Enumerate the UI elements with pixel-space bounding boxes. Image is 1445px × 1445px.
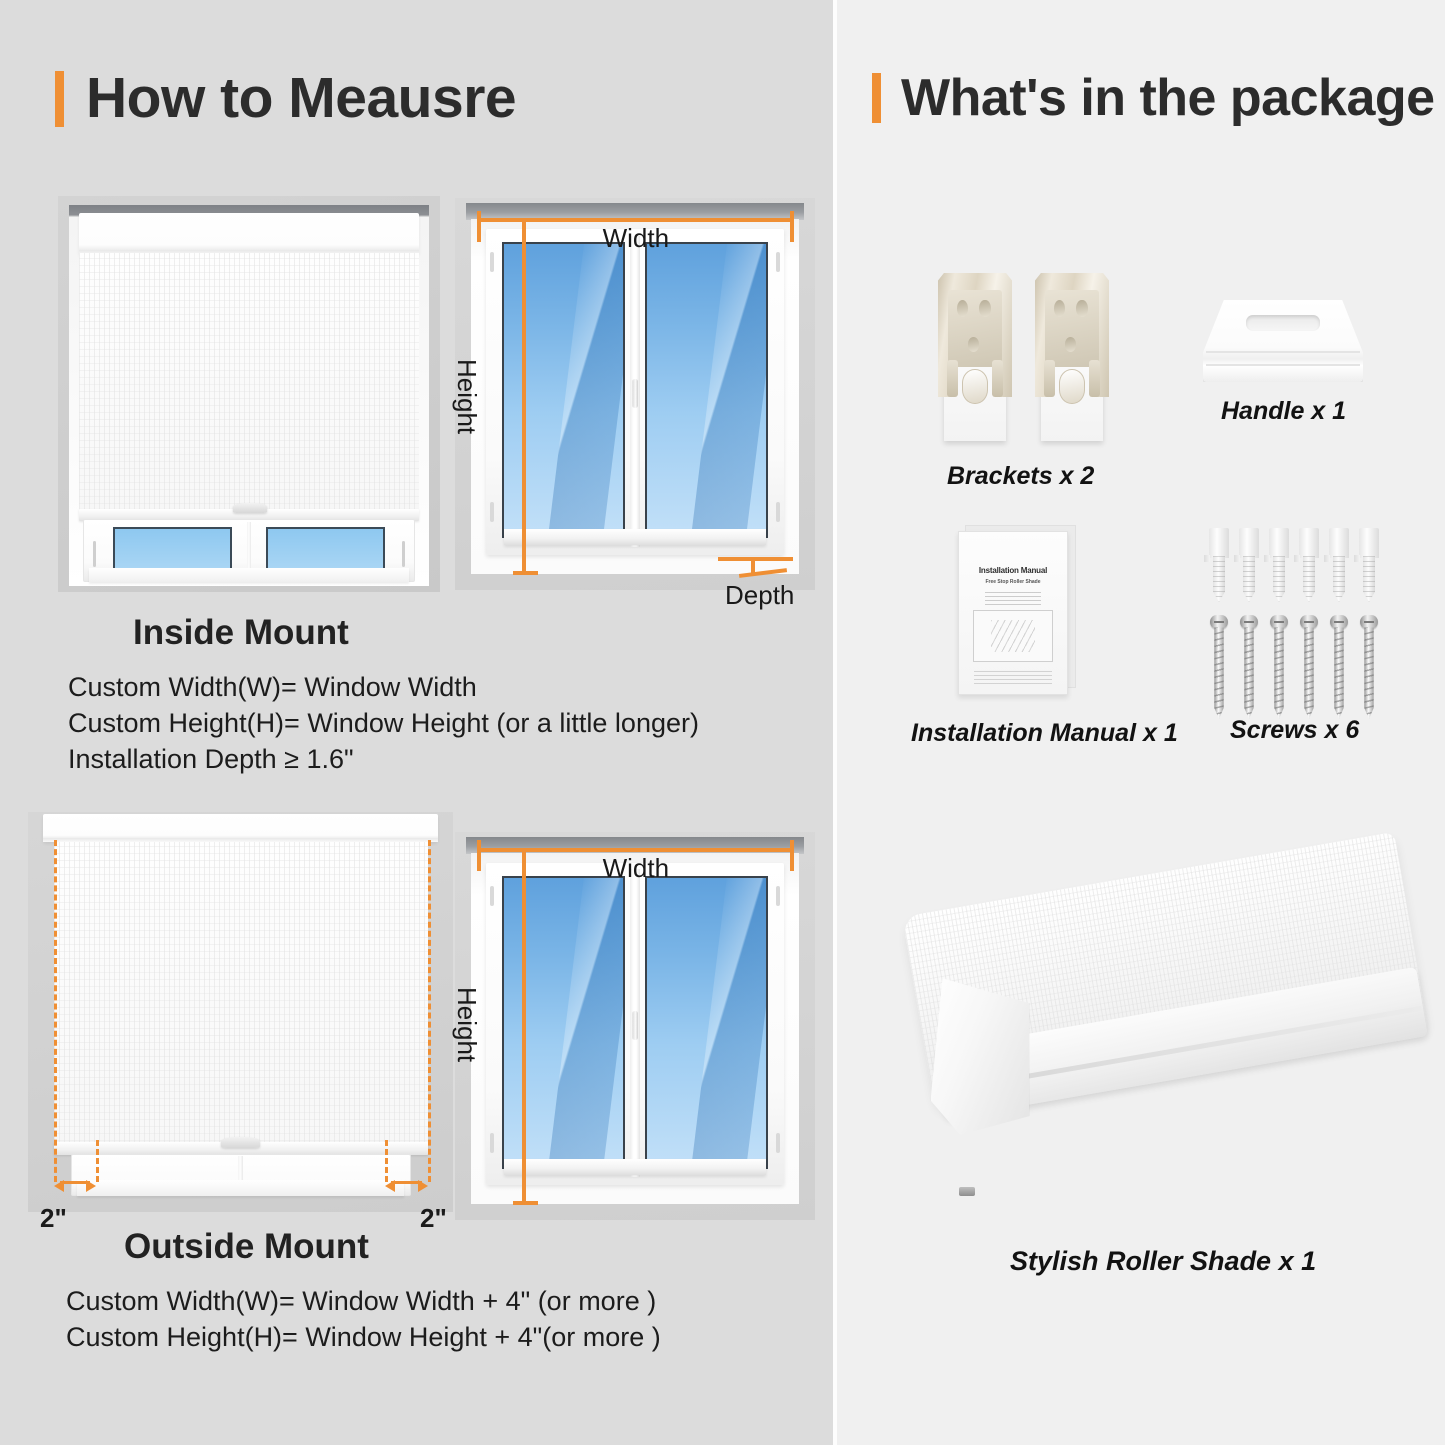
- anchor-wing: [1294, 555, 1300, 562]
- hinge-top-left: [490, 252, 494, 272]
- anchor-head: [1329, 528, 1349, 558]
- manual-cover: Installation Manual Free Stop Roller Sha…: [958, 531, 1068, 695]
- handle-ridge-2: [1206, 364, 1360, 366]
- roller-shade-icon: [915, 895, 1435, 1215]
- manual-cover-subtitle: Free Stop Roller Shade: [968, 579, 1059, 585]
- roller-shade-end-cap: [931, 978, 1030, 1135]
- wall-anchor-icon: [1299, 528, 1319, 602]
- outside-mount-title: Outside Mount: [124, 1227, 369, 1267]
- window-handles: [630, 379, 640, 408]
- window-sill: [504, 529, 767, 545]
- sash-handle-left: [93, 541, 96, 567]
- bracket-slot-left: [947, 360, 958, 397]
- hinge-bottom-right: [776, 502, 780, 522]
- inside-mount-title: Inside Mount: [133, 613, 349, 653]
- anchor-body: [1363, 556, 1376, 602]
- window-handles: [630, 1011, 640, 1040]
- screw-head: [1240, 615, 1258, 629]
- anchor-wing: [1234, 555, 1240, 562]
- anchor-wing: [1324, 555, 1330, 562]
- roller-shade-label: Stylish Roller Shade x 1: [1010, 1246, 1316, 1277]
- width-guide-cap-left: [477, 211, 481, 242]
- depth-label: Depth: [725, 580, 794, 611]
- bracket-hole-right: [1076, 300, 1087, 317]
- glass-pane-right: [645, 876, 768, 1169]
- width-guide-cap-right: [790, 211, 794, 242]
- anchor-head: [1269, 528, 1289, 558]
- screw-head: [1330, 615, 1348, 629]
- handle-icon: [1203, 300, 1363, 382]
- inside-mount-measure-diagram: Width Height Depth: [455, 198, 815, 590]
- wall-anchor-icon: [1209, 528, 1229, 602]
- anchor-body: [1273, 556, 1286, 602]
- handle-grip-slot: [1246, 315, 1320, 331]
- height-label: Height: [451, 359, 482, 434]
- anchor-head: [1209, 528, 1229, 558]
- bracket-inner-plate: [948, 290, 1001, 367]
- screw-icon: [1240, 615, 1258, 719]
- manual-cover-footer-text: [974, 670, 1052, 685]
- roller-shade-end-pin: [959, 1187, 975, 1196]
- how-to-measure-heading: How to Meausre: [55, 70, 516, 127]
- height-guide-cap-bottom: [513, 571, 538, 575]
- how-to-measure-title: How to Meausre: [86, 70, 516, 127]
- width-guide-cap-right: [790, 840, 794, 871]
- anchor-head: [1299, 528, 1319, 558]
- height-guide-cap-top: [513, 218, 538, 222]
- bracket-slot-right: [992, 360, 1003, 397]
- infographic-page: How to Meausre: [0, 0, 1445, 1445]
- anchor-head: [1239, 528, 1259, 558]
- screw-shaft: [1214, 627, 1223, 719]
- bracket-icon: [938, 273, 1012, 441]
- screw-icon: [1330, 615, 1348, 719]
- overhang-label-right: 2": [420, 1203, 447, 1234]
- overhang-guide-left: [54, 840, 57, 1182]
- overhang-guide-right: [428, 840, 431, 1182]
- outside-mount-spec-1: Custom Width(W)= Window Width + 4" (or m…: [66, 1286, 656, 1317]
- height-label: Height: [451, 987, 482, 1062]
- window-sash-area: [83, 519, 415, 582]
- outside-mount-spec-2: Custom Height(H)= Window Height + 4"(or …: [66, 1322, 661, 1353]
- screw-shaft: [1334, 627, 1343, 719]
- bracket-hole-right: [979, 300, 990, 317]
- inside-mount-shade-illustration: [58, 196, 440, 592]
- anchor-body: [1213, 556, 1226, 602]
- anchor-body: [1243, 556, 1256, 602]
- height-guide-cap-top: [513, 848, 538, 852]
- screw-shaft: [1274, 627, 1283, 719]
- brackets-label: Brackets x 2: [947, 462, 1094, 491]
- accent-bar-icon: [872, 73, 881, 123]
- hinge-top-right: [776, 886, 780, 906]
- screw-shaft: [1304, 627, 1313, 719]
- shade-pull-handle: [233, 503, 267, 513]
- window-sill: [77, 1180, 403, 1196]
- handle-label: Handle x 1: [1221, 397, 1346, 426]
- screw-head: [1210, 615, 1228, 629]
- manual-label: Installation Manual x 1: [911, 719, 1178, 748]
- screw-shaft: [1244, 627, 1253, 719]
- screw-icon: [1360, 615, 1378, 719]
- wall-anchor-icon: [1359, 528, 1379, 602]
- handle-ridge-1: [1206, 351, 1360, 353]
- anchor-body: [1303, 556, 1316, 602]
- height-guide-cap-bottom: [513, 1201, 538, 1205]
- bracket-oval-cutout: [1059, 369, 1084, 404]
- depth-guide-marker: [718, 557, 794, 575]
- shade-pull-handle: [221, 1137, 259, 1148]
- window-frame: [486, 229, 785, 554]
- window-edge-guide-left: [96, 1140, 99, 1182]
- screw-head: [1270, 615, 1288, 629]
- shade-headrail: [43, 814, 438, 842]
- anchor-wing: [1354, 555, 1360, 562]
- height-guide-line: [522, 218, 526, 575]
- overhang-arrow-left: [54, 1176, 97, 1188]
- hinge-top-right: [776, 252, 780, 272]
- manual-cover-marks: [985, 592, 1041, 605]
- glass-pane-left: [502, 242, 625, 538]
- screw-icon: [1210, 615, 1228, 719]
- inside-mount-spec-3: Installation Depth ≥ 1.6": [68, 744, 354, 775]
- overhang-arrow-right: [385, 1176, 428, 1188]
- glass-pane-right: [266, 527, 386, 570]
- shade-headrail: [79, 213, 419, 255]
- window-sill-area: [71, 1154, 411, 1196]
- window-sill: [89, 568, 408, 582]
- package-heading: What's in the package: [872, 72, 1435, 124]
- inside-mount-spec-2: Custom Height(H)= Window Height (or a li…: [68, 708, 699, 739]
- bracket-oval-cutout: [962, 369, 987, 404]
- height-guide-line: [522, 848, 526, 1205]
- manual-cover-illustration: [973, 610, 1053, 662]
- manual-cover-title: Installation Manual: [968, 566, 1059, 575]
- hinge-top-left: [490, 886, 494, 906]
- handle-body: [1203, 300, 1363, 382]
- accent-bar-icon: [55, 71, 64, 127]
- glass-pane-right: [645, 242, 768, 538]
- hinge-bottom-right: [776, 1133, 780, 1153]
- anchor-wing: [1264, 555, 1270, 562]
- window-sill: [504, 1159, 767, 1175]
- screws-label: Screws x 6: [1230, 716, 1359, 745]
- wall-anchor-icon: [1329, 528, 1349, 602]
- overhang-label-left: 2": [40, 1203, 67, 1234]
- screw-head: [1360, 615, 1378, 629]
- width-label: Width: [603, 853, 669, 884]
- anchor-head: [1359, 528, 1379, 558]
- shade-fabric: [54, 842, 428, 1148]
- sash-handle-right: [402, 541, 405, 567]
- hinge-bottom-left: [490, 1133, 494, 1153]
- width-guide-cap-left: [477, 840, 481, 871]
- hinge-bottom-left: [490, 502, 494, 522]
- package-title: What's in the package: [901, 72, 1435, 124]
- anchor-wing: [1204, 555, 1210, 562]
- wall-anchor-icon: [1269, 528, 1289, 602]
- glass-pane-left: [502, 876, 625, 1169]
- bracket-inner-plate: [1045, 290, 1098, 367]
- screw-head: [1300, 615, 1318, 629]
- screw-icon: [1270, 615, 1288, 719]
- outside-mount-shade-illustration: [28, 812, 453, 1212]
- outside-mount-measure-diagram: Width Height: [455, 832, 815, 1220]
- bracket-icon: [1035, 273, 1109, 441]
- window-frame: [486, 863, 785, 1185]
- wall-anchor-icon: [1239, 528, 1259, 602]
- bracket-slot-right: [1089, 360, 1100, 397]
- glass-pane-left: [113, 527, 233, 570]
- screw-shaft: [1364, 627, 1373, 719]
- shade-fabric: [79, 253, 419, 510]
- width-label: Width: [603, 223, 669, 254]
- screw-icon: [1300, 615, 1318, 719]
- anchor-body: [1333, 556, 1346, 602]
- inside-mount-spec-1: Custom Width(W)= Window Width: [68, 672, 477, 703]
- bracket-slot-left: [1044, 360, 1055, 397]
- manual-icon: Installation Manual Free Stop Roller Sha…: [958, 525, 1076, 695]
